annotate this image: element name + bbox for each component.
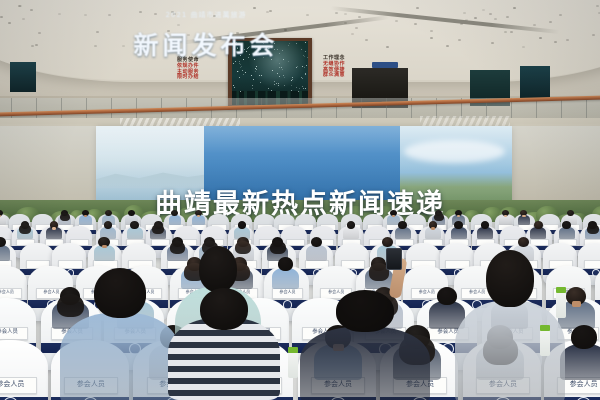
photo-scene: 服务使命 依规办件 主动服务 限时办结 工作理念 无缝协作 高效便捷 群众满意 …	[0, 0, 600, 400]
blue-wall-plate	[372, 62, 398, 68]
ceiling-fixture-dot	[539, 37, 542, 39]
attendee-long-hair	[270, 241, 285, 254]
star-point	[252, 85, 253, 86]
ceiling-fixture-dot	[460, 23, 463, 25]
attendee-head	[0, 237, 6, 247]
ceiling-fixture-dot	[253, 7, 256, 9]
star-point	[283, 75, 284, 76]
star-point	[282, 69, 283, 70]
ceiling-fixture-dot	[335, 12, 338, 14]
attendee	[588, 221, 597, 242]
star-point	[292, 79, 293, 80]
attendee-long-hair	[19, 224, 31, 234]
attendee	[520, 210, 527, 227]
attendee-neck	[504, 215, 507, 217]
attendee-head	[382, 237, 393, 247]
wall-sign-right: 工作理念 无缝协作 高效便捷 群众满意	[296, 56, 372, 79]
backdrop-subtitle: 2021 曲靖市进萬旅游	[108, 10, 304, 20]
attendee-long-hair	[434, 213, 444, 221]
attendee-neck	[572, 301, 581, 306]
attendee-long-hair	[587, 224, 599, 234]
attendee-head	[454, 221, 463, 229]
attendee	[534, 221, 543, 242]
ceiling-fixture-dot	[506, 16, 509, 18]
star-point	[233, 85, 234, 86]
attendee	[454, 221, 463, 242]
ceiling-fixture-dot	[458, 39, 461, 41]
attendee	[278, 257, 293, 294]
star-point	[238, 71, 239, 72]
attendee-neck	[84, 215, 87, 217]
attendee-head	[311, 237, 322, 247]
attendee-long-hair	[152, 224, 164, 234]
backdrop-title: 新闻发布会	[108, 26, 304, 62]
attendee-head	[562, 221, 571, 229]
star-point	[305, 51, 306, 52]
foreground-attendee-torso	[300, 327, 430, 400]
water-bottle	[540, 330, 550, 356]
star-point	[274, 84, 275, 85]
attendee-head	[104, 221, 113, 229]
attendee-torso	[559, 227, 575, 239]
water-bottle-cap	[556, 287, 566, 293]
attendee	[429, 221, 438, 242]
star-point	[278, 85, 279, 86]
foreground-attendee-head	[486, 250, 534, 307]
attendee	[98, 237, 109, 265]
chair-name-card-text: 参会人员	[0, 378, 36, 389]
attendee	[347, 221, 356, 242]
star-point	[274, 81, 275, 82]
star-point	[279, 63, 280, 64]
star-point	[305, 88, 306, 89]
attendee-head	[534, 221, 543, 229]
ceiling-fixture-dot	[19, 5, 22, 7]
star-point	[279, 76, 280, 77]
attendee	[21, 221, 30, 242]
star-point	[268, 88, 269, 89]
attendee-torso	[0, 245, 10, 261]
ceiling-fixture-dot	[31, 45, 34, 47]
star-point	[291, 80, 292, 81]
attendee-neck	[197, 215, 200, 217]
chair-name-card	[584, 260, 600, 269]
attendee-torso	[343, 227, 359, 239]
attendee-torso	[395, 227, 411, 239]
star-point	[239, 77, 240, 78]
attendee-head	[481, 221, 490, 229]
ceiling-fixture-dot	[491, 42, 494, 44]
ceiling-fixture-dot	[596, 5, 599, 7]
attendee-torso	[0, 215, 6, 225]
attendee-neck	[457, 215, 460, 217]
star-point	[299, 88, 300, 89]
attendee-torso	[530, 227, 546, 239]
star-point	[302, 86, 303, 87]
foreground-attendee	[300, 290, 430, 400]
attendee-long-hair	[60, 213, 70, 221]
star-point	[242, 70, 243, 71]
ceiling-fixture-dot	[58, 13, 61, 15]
striped-shirt-head	[200, 288, 248, 330]
ceiling-fixture-dot	[504, 31, 507, 33]
wall-sign-left-line-3: 限时办结	[152, 75, 224, 81]
ceiling-fixture-dot	[38, 32, 41, 34]
star-point	[252, 88, 253, 89]
water-bottle	[288, 352, 298, 378]
attendee-neck	[522, 215, 525, 217]
attendee	[130, 221, 139, 242]
star-point	[245, 72, 246, 73]
star-point	[233, 63, 234, 64]
attendee	[311, 237, 322, 265]
striped-shirt-attendee	[168, 288, 280, 400]
star-point	[303, 88, 304, 89]
attendee	[195, 210, 202, 227]
star-point	[272, 70, 273, 71]
attendee	[61, 210, 68, 227]
ceiling-fixture-dot	[549, 21, 552, 23]
ceiling-fixture-dot	[96, 31, 99, 33]
star-point	[240, 67, 241, 68]
ceiling-fixture-dot	[306, 14, 309, 16]
chair-name-card-text: 参会人员	[0, 328, 27, 337]
attendee-torso	[169, 215, 182, 225]
attendee-torso	[127, 227, 143, 239]
star-point	[241, 66, 242, 67]
star-point	[243, 74, 244, 75]
attendee	[398, 221, 407, 242]
star-point	[284, 77, 285, 78]
attendee	[171, 210, 178, 227]
star-point	[240, 64, 241, 65]
attendee	[82, 210, 89, 227]
attendee-neck	[431, 227, 435, 229]
attendee	[502, 210, 509, 227]
attendee-head	[238, 221, 247, 229]
attendee-torso	[560, 344, 600, 380]
star-point	[253, 79, 254, 80]
star-point	[291, 85, 292, 86]
attendee	[0, 210, 3, 227]
star-point	[256, 66, 257, 67]
attendee-head	[278, 257, 293, 271]
star-point	[298, 91, 299, 92]
star-point	[276, 83, 277, 84]
star-point	[255, 71, 256, 72]
attendee-torso	[272, 268, 300, 289]
water-bottle-cap	[288, 347, 298, 353]
attendee-torso	[306, 245, 327, 261]
star-point	[278, 83, 279, 84]
attendee	[154, 221, 163, 242]
ceiling-fixture-dot	[463, 12, 466, 14]
chair-name-card: 参会人员	[0, 377, 37, 394]
ceiling-fixture-dot	[8, 22, 11, 24]
water-bottle-cap	[540, 325, 550, 331]
attendee	[481, 221, 490, 242]
attendee	[390, 210, 397, 227]
ceiling-fixture-dot	[482, 9, 485, 11]
attendee	[571, 325, 597, 389]
attendee	[50, 221, 59, 242]
star-point	[234, 87, 235, 88]
ceiling-fixture-dot	[386, 46, 389, 48]
ceiling-fixture-dot	[522, 46, 525, 48]
attendee-neck	[52, 227, 56, 229]
star-point	[281, 67, 282, 68]
attendee-torso	[451, 227, 467, 239]
wall-screen-right	[520, 66, 550, 100]
chair-name-card-text: 参会人员	[0, 289, 21, 295]
foreground-attendee-head	[94, 268, 147, 318]
foreground-attendee-head	[336, 290, 393, 332]
foreground-attendee	[60, 268, 180, 400]
star-point	[271, 90, 272, 91]
attendee-head	[128, 210, 135, 216]
star-point	[237, 71, 238, 72]
water-bottle	[556, 292, 566, 318]
attendee	[0, 237, 6, 265]
star-point	[305, 42, 306, 43]
attendee-torso	[477, 227, 493, 239]
attendee-neck	[102, 245, 107, 248]
attendee-head	[571, 325, 597, 349]
star-point	[256, 69, 257, 70]
attendee-head	[130, 221, 139, 229]
wall-sign-right-line-3: 群众满意	[296, 73, 372, 79]
star-point	[296, 87, 297, 88]
smartphone	[386, 248, 402, 270]
star-point	[261, 75, 262, 76]
attendee-head	[518, 237, 529, 247]
star-point	[260, 82, 261, 83]
foreground-attendee-head	[199, 246, 237, 292]
star-point	[284, 85, 285, 86]
ceiling-fixture-dot	[30, 9, 33, 11]
attendee-head	[398, 221, 407, 229]
ceiling-fixture-dot	[365, 39, 368, 41]
star-point	[277, 73, 278, 74]
striped-shirt-torso	[168, 318, 280, 400]
foreground-attendee-torso	[60, 313, 180, 400]
attendee	[562, 221, 571, 242]
wall-screen-left	[10, 62, 36, 92]
star-point	[251, 75, 252, 76]
ceiling-fixture-dot	[0, 16, 3, 18]
chair-name-card: 参会人员	[0, 327, 28, 341]
